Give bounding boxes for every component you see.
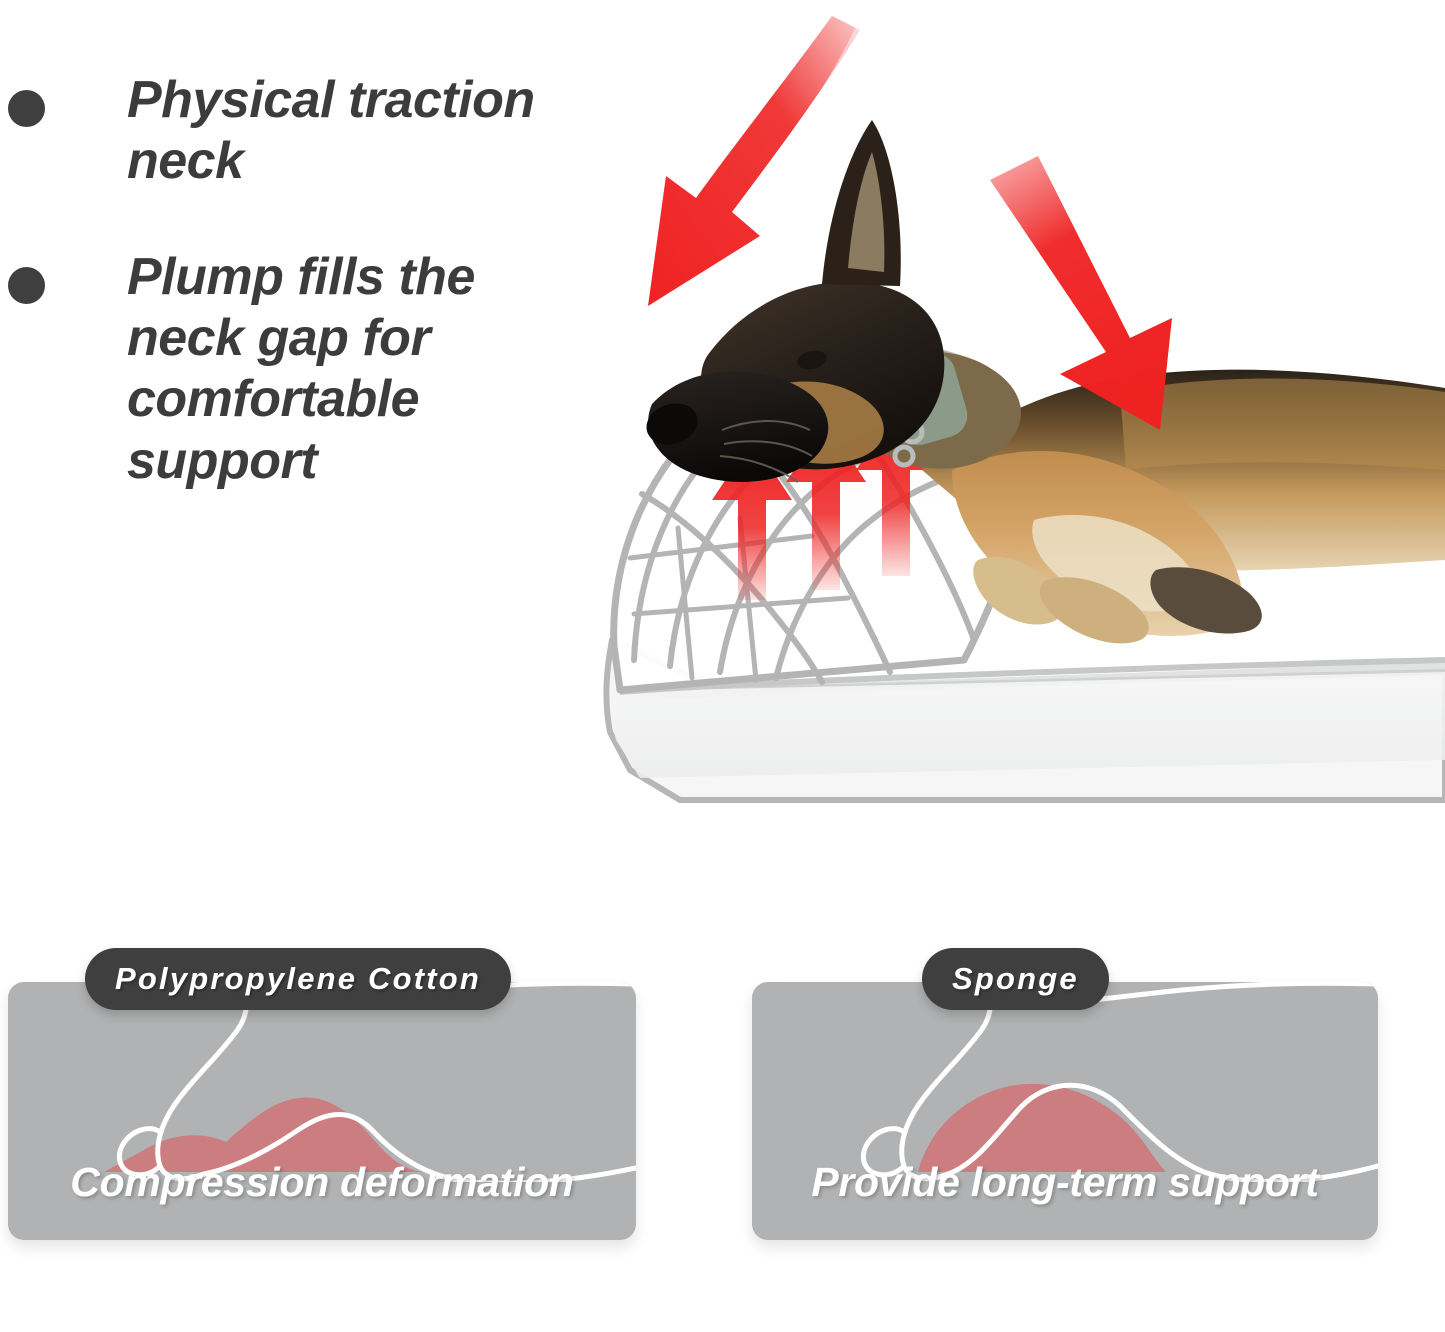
panel-caption-long-term-support: Provide long-term support [752, 1159, 1378, 1206]
panel-illustration-support [752, 982, 1378, 1182]
panel-illustration-compression [8, 982, 636, 1182]
product-illustration [560, 0, 1445, 900]
panel-badge-polypropylene-cotton: Polypropylene Cotton [85, 948, 511, 1010]
feature-bullet-item: Plump fills the neck gap for comfortable… [0, 247, 620, 492]
bullet-dot-icon [8, 90, 45, 127]
material-comparison-section: Polypropylene Cotton Compression deforma… [0, 930, 1445, 1332]
hero-section: Physical traction neck Plump fills the n… [0, 0, 1445, 920]
feature-bullet-text: Physical traction neck [127, 70, 597, 193]
comparison-panel-polypropylene-cotton: Polypropylene Cotton Compression deforma… [8, 982, 636, 1240]
panel-caption-compression-deformation: Compression deformation [8, 1159, 636, 1206]
feature-bullet-list: Physical traction neck Plump fills the n… [0, 70, 620, 546]
comparison-panel-sponge: Sponge Provide long-term support [752, 982, 1378, 1240]
feature-bullet-text: Plump fills the neck gap for comfortable… [127, 247, 597, 492]
feature-bullet-item: Physical traction neck [0, 70, 620, 193]
panel-badge-sponge: Sponge [922, 948, 1109, 1010]
bullet-dot-icon [8, 267, 45, 304]
